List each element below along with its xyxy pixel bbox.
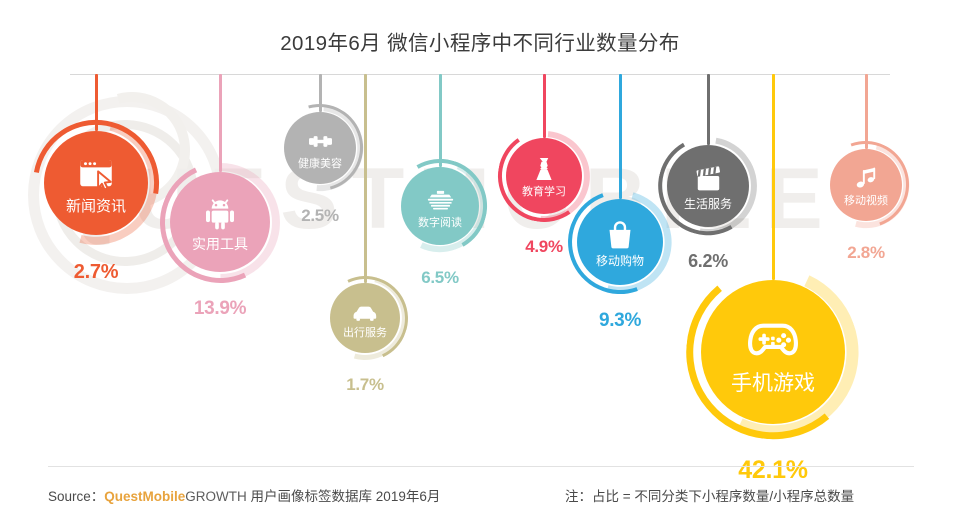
bubble-icon [351, 298, 379, 326]
top-rail [70, 74, 890, 75]
bubble-label: 新闻资讯 [66, 199, 126, 214]
bubble-circle[interactable]: 手机游戏 [701, 280, 845, 424]
bubble-stem [865, 74, 868, 149]
bubble-percentage: 2.8% [806, 243, 926, 263]
bubble[interactable]: 生活服务 [667, 145, 749, 227]
bubble[interactable]: 数字阅读 [401, 167, 479, 245]
bubble-label: 数字阅读 [418, 218, 462, 229]
bubble-circle[interactable]: 实用工具 [170, 172, 270, 272]
bubble-circle[interactable]: 移动视频 [830, 149, 902, 221]
music-note-icon [852, 164, 881, 193]
bubble-circle[interactable]: 健康美容 [284, 112, 356, 184]
bubble-label: 手机游戏 [731, 373, 815, 394]
dress-icon [529, 154, 559, 184]
clapperboard-icon [692, 162, 725, 195]
bubble[interactable]: 实用工具 [170, 172, 270, 272]
bubble-percentage: 6.5% [380, 268, 500, 288]
bubble-percentage: 2.5% [260, 206, 380, 226]
source-line: Source：QuestMobileGROWTH 用户画像标签数据库 2019年… [48, 485, 440, 505]
bubble-circle[interactable]: 生活服务 [667, 145, 749, 227]
source-brand-suffix: GROWTH [185, 489, 247, 504]
footnote: 注：占比 = 不同分类下小程序数量/小程序总数量 [565, 485, 854, 505]
bubble-icon [603, 218, 637, 252]
source-brand: QuestMobile [104, 489, 185, 504]
bubble-percentage: 13.9% [160, 298, 280, 320]
browser-cursor-icon [75, 153, 117, 195]
source-prefix: Source： [48, 489, 104, 504]
bubble-stem [439, 74, 442, 167]
bubble-label: 移动购物 [596, 255, 644, 267]
bubble-label: 教育学习 [522, 187, 566, 198]
bubble-percentage: 42.1% [713, 456, 833, 485]
bubble[interactable]: 移动视频 [830, 149, 902, 221]
bubble-label: 实用工具 [192, 237, 248, 251]
bubble[interactable]: 教育学习 [506, 138, 582, 214]
car-icon [351, 298, 379, 326]
bubble-stem [707, 74, 710, 145]
android-robot-icon [200, 193, 240, 233]
bubble-label: 移动视频 [844, 196, 888, 207]
bubble-percentage: 1.7% [305, 375, 425, 395]
bubble-percentage: 2.7% [36, 261, 156, 284]
chart-title: 2019年6月 微信小程序中不同行业数量分布 [0, 26, 960, 56]
bubble-stem [543, 74, 546, 138]
bubble-percentage: 9.3% [560, 310, 680, 332]
bubble-circle[interactable]: 出行服务 [330, 283, 400, 353]
dumbbell-icon [306, 127, 335, 156]
bubble[interactable]: 健康美容 [284, 112, 356, 184]
gamepad-icon [744, 310, 802, 368]
bubble-circle[interactable]: 新闻资讯 [44, 131, 148, 235]
bubble-circle[interactable]: 移动购物 [577, 199, 663, 285]
bubble-label: 出行服务 [343, 328, 387, 339]
bubble-stem [219, 74, 222, 172]
bubble-icon [852, 164, 881, 193]
shopping-bag-icon [603, 218, 637, 252]
bubble-stem [619, 74, 622, 199]
bubble-icon [425, 184, 456, 215]
bubble-circle[interactable]: 教育学习 [506, 138, 582, 214]
bubble[interactable]: 出行服务 [330, 283, 400, 353]
bubble[interactable]: 移动购物 [577, 199, 663, 285]
open-book-icon [425, 184, 456, 215]
source-rest: 用户画像标签数据库 2019年6月 [247, 489, 441, 504]
bubble[interactable]: 新闻资讯 [44, 131, 148, 235]
bubble-icon [75, 153, 117, 195]
bubble-icon [529, 154, 559, 184]
infographic-canvas: QUESTMOBILE 2019年6月 微信小程序中不同行业数量分布 新闻资讯2… [0, 0, 960, 528]
bubble-icon [692, 162, 725, 195]
bubble[interactable]: 手机游戏 [701, 280, 845, 424]
bubble-label: 生活服务 [684, 198, 732, 210]
bubble-icon [200, 193, 240, 233]
bubble-stem [772, 74, 775, 280]
bubble-stem [364, 74, 367, 283]
bubble-label: 健康美容 [298, 159, 342, 170]
bubble-icon [306, 127, 335, 156]
bubble-circle[interactable]: 数字阅读 [401, 167, 479, 245]
footer-divider [48, 466, 914, 467]
bubble-icon [744, 310, 802, 368]
